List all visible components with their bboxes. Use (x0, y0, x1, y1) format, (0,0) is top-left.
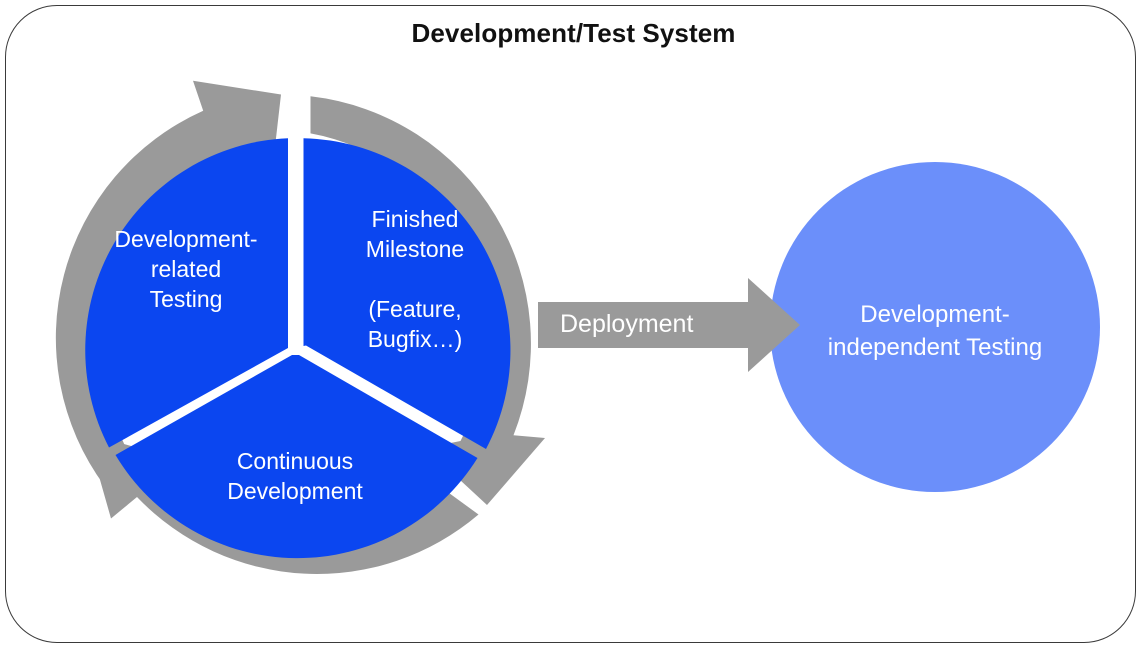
deployment-arrow-shape (538, 278, 800, 372)
diagram-canvas: Development/Test System Develop (0, 0, 1147, 657)
cycle-segments (85, 138, 510, 558)
diagram-graphics (0, 0, 1147, 657)
development-independent-circle (770, 162, 1100, 492)
